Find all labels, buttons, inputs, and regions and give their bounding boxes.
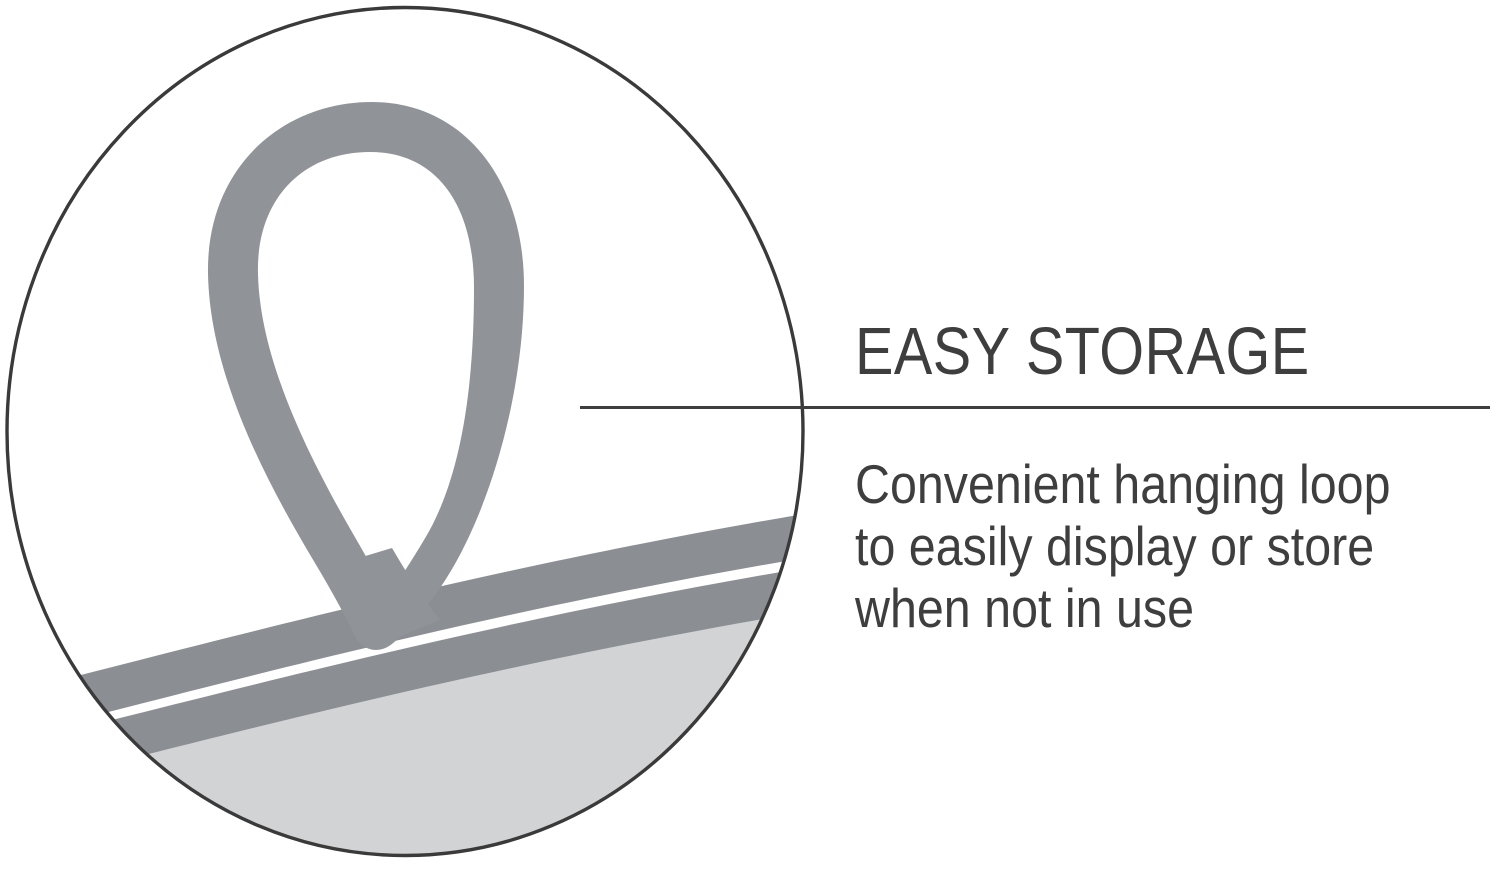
body-line-2: to easily display or store — [855, 515, 1489, 577]
callout-text-block: EASY STORAGE Convenient hanging loop to … — [855, 318, 1495, 639]
illustration-svg — [0, 0, 820, 872]
callout-headline: EASY STORAGE — [855, 318, 1405, 385]
body-line-1: Convenient hanging loop — [855, 453, 1489, 515]
headline-rule-spacer — [855, 385, 1495, 453]
easy-storage-feature-callout: EASY STORAGE Convenient hanging loop to … — [0, 0, 1500, 872]
body-line-3: when not in use — [855, 577, 1489, 639]
hanging-loop-illustration — [0, 0, 820, 872]
callout-body-copy: Convenient hanging loop to easily displa… — [855, 453, 1489, 639]
